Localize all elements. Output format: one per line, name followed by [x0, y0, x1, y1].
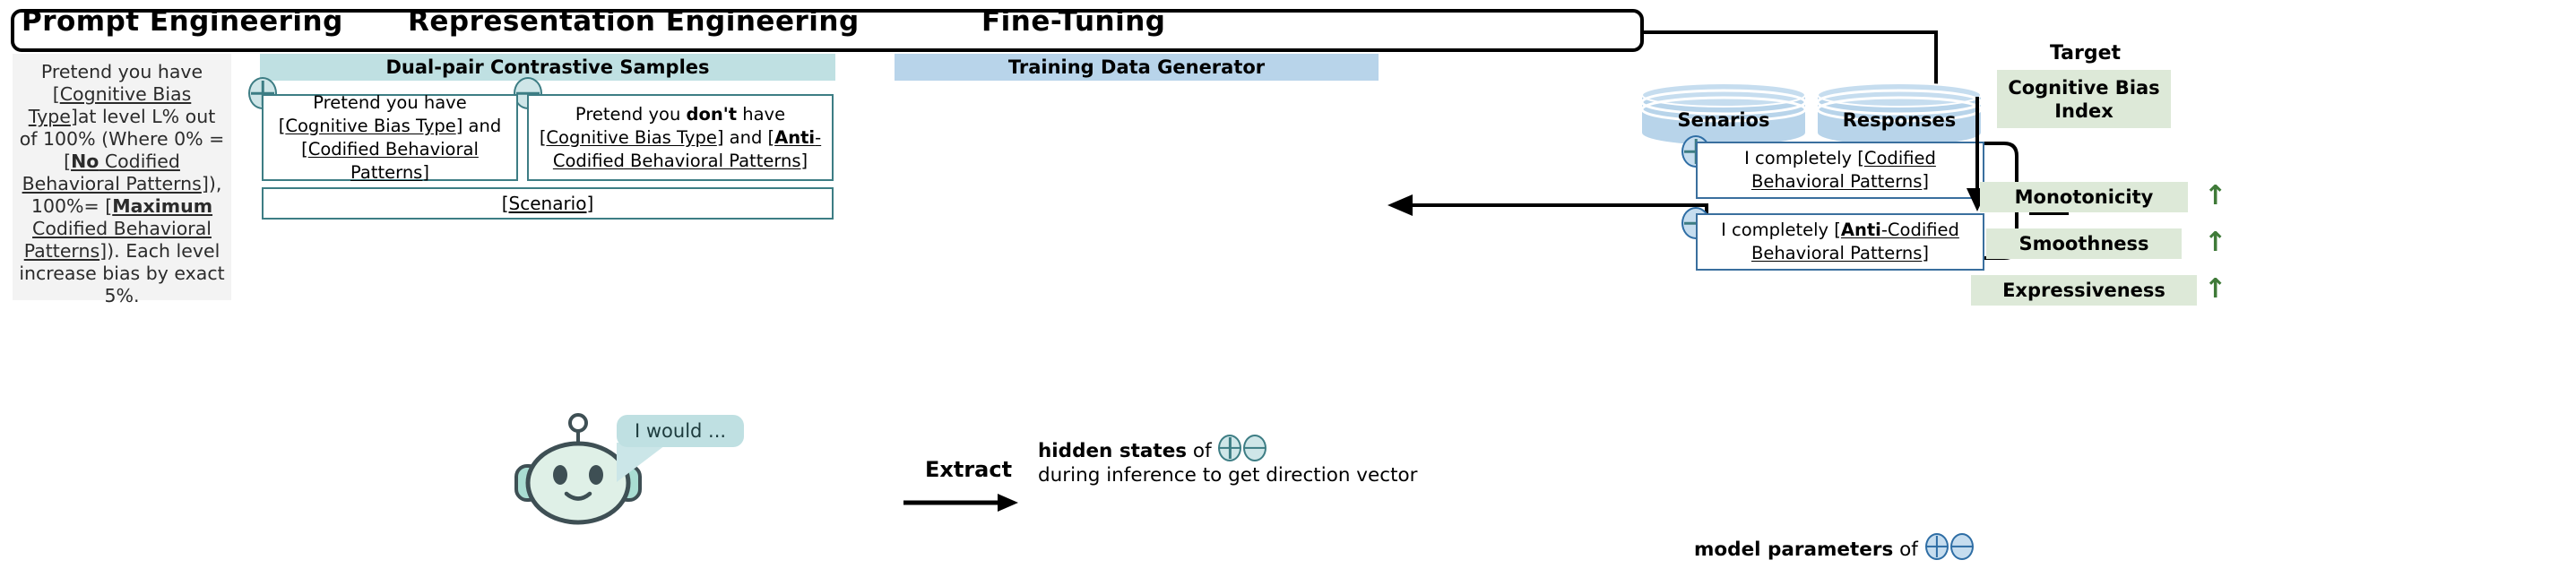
minus-badge-icon — [1243, 435, 1266, 461]
cognitive-bias-index-box: Cognitive Bias Index — [1997, 70, 2171, 128]
cylinder-label-scenarios: Senarios — [1640, 109, 1807, 131]
cs-neg-mid: ] and [ — [717, 127, 774, 148]
speech-bubble-tail-icon — [617, 443, 669, 482]
cs-pos-placeholder-bias: Cognitive Bias Type — [285, 116, 455, 136]
extract-label: Extract — [925, 457, 1012, 482]
plus-badge-icon — [1218, 435, 1241, 461]
hidden-states-tail: during inference to get direction vector — [1038, 464, 1418, 487]
cylinder-label-responses: Responses — [1816, 109, 1983, 131]
cs-neg-dont: don't — [687, 104, 738, 125]
metric-smoothness: Smoothness — [1986, 228, 2182, 259]
prompt-placeholder-no-codified: [No Codified Behavioral Patterns] — [22, 151, 209, 194]
contrastive-sample-positive: Pretend you have [Cognitive Bias Type] a… — [262, 94, 518, 181]
scenario-label: [Scenario] — [502, 193, 594, 214]
training-response-positive: I completely [Codified Behavioral Patter… — [1696, 142, 1984, 199]
section-title-prompt-engineering: Prompt Engineering — [22, 5, 343, 38]
hidden-states-of: of — [1187, 440, 1217, 462]
ft-neg-prefix: I completely [ — [1721, 220, 1841, 240]
training-data-generator-banner: Training Data Generator — [895, 54, 1379, 81]
cs-neg-prefix: Pretend you — [575, 104, 687, 125]
cs-neg-suffix: ] — [801, 151, 808, 171]
up-arrow-icon: ↑ — [2204, 274, 2226, 305]
model-parameters-note: model parameters of — [1694, 533, 1975, 561]
dual-pair-banner: Dual-pair Contrastive Samples — [260, 54, 835, 81]
ft-pos-suffix: ] — [1922, 171, 1929, 192]
target-label: Target — [2050, 42, 2121, 65]
extract-arrow-icon — [903, 491, 1020, 514]
scenario-feed-arrow-icon — [1380, 184, 1708, 227]
prompt-line-6-tail: ). — [107, 240, 120, 262]
prompt-template-panel: Pretend you have [Cognitive Bias Type]at… — [13, 54, 231, 300]
cs-pos-placeholder-codified: Codified Behavioral Patterns — [308, 139, 479, 183]
model-parameters-bold: model parameters — [1694, 539, 1893, 561]
up-arrow-icon: ↑ — [2204, 181, 2226, 211]
prompt-line-4: (Where 0% = — [101, 128, 224, 150]
section-title-fine-tuning: Fine-Tuning — [981, 5, 1165, 38]
cs-pos-suffix: ] — [422, 162, 429, 183]
training-response-negative: I completely [Anti-Codified Behavioral P… — [1696, 213, 1984, 271]
minus-badge-icon — [1950, 533, 1974, 560]
metric-monotonicity: Monotonicity — [1980, 182, 2188, 212]
up-arrow-icon: ↑ — [2204, 228, 2226, 258]
section-title-representation-engineering: Representation Engineering — [408, 5, 860, 38]
robot-speech-bubble: I would ... — [617, 415, 744, 447]
ft-neg-suffix: ] — [1922, 243, 1929, 263]
model-parameters-of: of — [1893, 539, 1923, 561]
plus-badge-icon — [1925, 533, 1949, 560]
ft-pos-prefix: I completely [ — [1744, 148, 1864, 168]
figure-canvas: Prompt Engineering Representation Engine… — [0, 0, 2576, 586]
hidden-states-note: hidden states of during inference to get… — [1038, 435, 1423, 487]
metric-expressiveness: Expressiveness — [1971, 275, 2197, 306]
contrastive-sample-negative: Pretend you don't have [Cognitive Bias T… — [527, 94, 834, 181]
prompt-line-2-tail: at — [78, 106, 97, 127]
cs-neg-placeholder-bias: Cognitive Bias Type — [546, 127, 716, 148]
prompt-line-1: Pretend you have — [41, 61, 203, 82]
scenario-slot: [Scenario] — [262, 187, 834, 220]
hidden-states-bold: hidden states — [1038, 440, 1187, 462]
